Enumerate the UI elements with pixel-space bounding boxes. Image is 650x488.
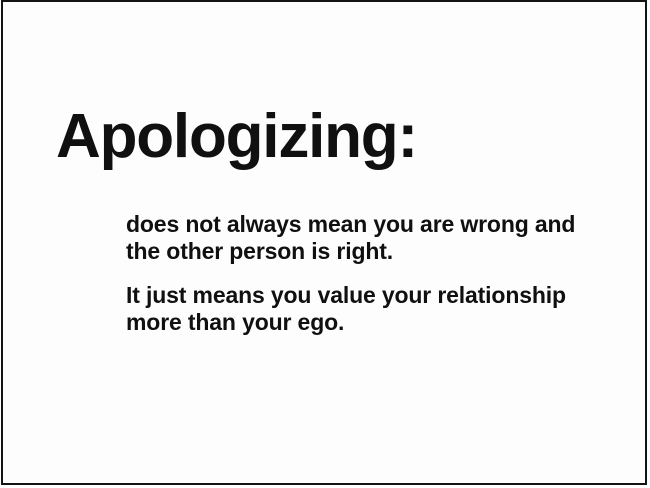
page-title: Apologizing: <box>56 106 417 168</box>
poster-frame: Apologizing: does not always mean you ar… <box>1 0 647 485</box>
poster-body-text: does not always mean you are wrong and t… <box>126 211 626 336</box>
poster-content-area: Apologizing: does not always mean you ar… <box>3 2 645 483</box>
body-paragraph-second: It just means you value your relationshi… <box>126 282 626 336</box>
body-paragraph-first: does not always mean you are wrong and t… <box>126 211 626 265</box>
